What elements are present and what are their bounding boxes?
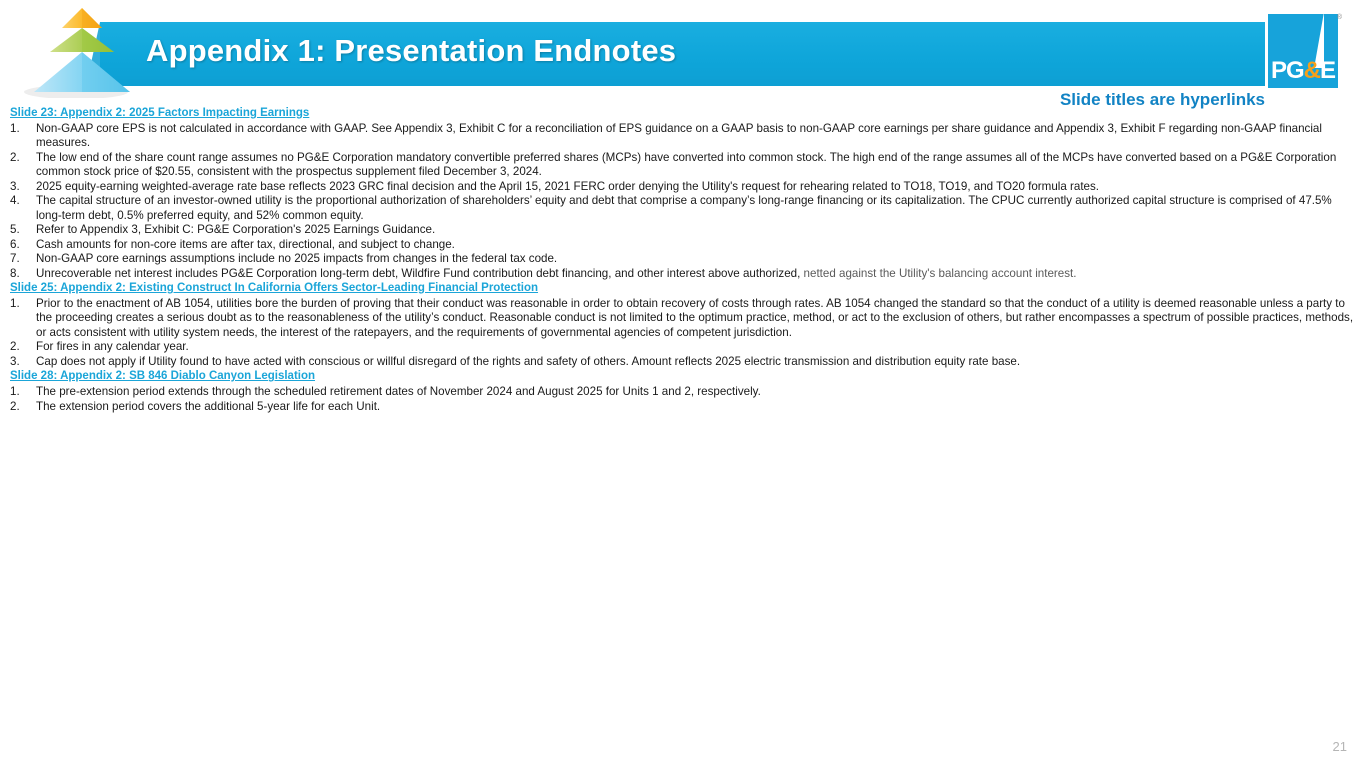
endnote-item: 3.2025 equity-earning weighted-average r… xyxy=(0,180,1365,194)
endnote-text: The extension period covers the addition… xyxy=(36,400,1365,414)
endnote-list: 1.Prior to the enactment of AB 1054, uti… xyxy=(0,297,1365,369)
endnote-number: 1. xyxy=(10,385,32,399)
pge-logo-text: PG&E xyxy=(1268,59,1338,83)
registered-mark-icon: ® xyxy=(1337,14,1342,21)
endnote-number: 7. xyxy=(10,252,32,266)
endnote-number: 4. xyxy=(10,194,32,208)
endnotes-content: Slide 23: Appendix 2: 2025 Factors Impac… xyxy=(0,106,1365,414)
endnote-text: Non-GAAP core earnings assumptions inclu… xyxy=(36,252,1365,266)
endnote-text: Prior to the enactment of AB 1054, utili… xyxy=(36,297,1365,340)
endnote-number: 6. xyxy=(10,238,32,252)
endnote-item: 8.Unrecoverable net interest includes PG… xyxy=(0,267,1365,281)
endnote-item: 6.Cash amounts for non-core items are af… xyxy=(0,238,1365,252)
slide-link[interactable]: Slide 25: Appendix 2: Existing Construct… xyxy=(10,281,1365,296)
endnote-number: 8. xyxy=(10,267,32,281)
slide-link[interactable]: Slide 23: Appendix 2: 2025 Factors Impac… xyxy=(10,106,1365,121)
endnote-text-main: The extension period covers the addition… xyxy=(36,400,380,413)
endnote-number: 3. xyxy=(10,355,32,369)
endnote-item: 2.For fires in any calendar year. xyxy=(0,340,1365,354)
endnote-text-main: Cap does not apply if Utility found to h… xyxy=(36,355,1020,368)
pge-logo-pg: PG xyxy=(1271,57,1304,84)
page-number: 21 xyxy=(1333,739,1347,754)
endnote-text-main: Refer to Appendix 3, Exhibit C: PG&E Cor… xyxy=(36,223,435,236)
endnote-list: 1.The pre-extension period extends throu… xyxy=(0,385,1365,414)
endnote-item: 5.Refer to Appendix 3, Exhibit C: PG&E C… xyxy=(0,223,1365,237)
endnote-item: 2.The low end of the share count range a… xyxy=(0,151,1365,180)
endnote-number: 2. xyxy=(10,151,32,165)
endnote-text-main: Prior to the enactment of AB 1054, utili… xyxy=(36,297,1353,339)
endnote-number: 1. xyxy=(10,297,32,311)
endnote-text-main: The pre-extension period extends through… xyxy=(36,385,761,398)
endnote-text: The low end of the share count range ass… xyxy=(36,151,1365,180)
endnote-item: 4.The capital structure of an investor-o… xyxy=(0,194,1365,223)
endnote-item: 3.Cap does not apply if Utility found to… xyxy=(0,355,1365,369)
endnote-text: Refer to Appendix 3, Exhibit C: PG&E Cor… xyxy=(36,223,1365,237)
endnote-section: Slide 28: Appendix 2: SB 846 Diablo Cany… xyxy=(0,369,1365,414)
endnote-number: 1. xyxy=(10,122,32,136)
pge-logo-e: E xyxy=(1320,57,1335,84)
endnote-item: 1.The pre-extension period extends throu… xyxy=(0,385,1365,399)
endnote-item: 1.Prior to the enactment of AB 1054, uti… xyxy=(0,297,1365,340)
endnote-text: Cap does not apply if Utility found to h… xyxy=(36,355,1365,369)
endnote-number: 3. xyxy=(10,180,32,194)
slide-link[interactable]: Slide 28: Appendix 2: SB 846 Diablo Cany… xyxy=(10,369,1365,384)
endnote-section: Slide 23: Appendix 2: 2025 Factors Impac… xyxy=(0,106,1365,281)
endnote-number: 2. xyxy=(10,400,32,414)
endnote-number: 2. xyxy=(10,340,32,354)
endnote-list: 1.Non-GAAP core EPS is not calculated in… xyxy=(0,122,1365,281)
pyramid-logo-icon xyxy=(22,6,142,98)
endnote-item: 7.Non-GAAP core earnings assumptions inc… xyxy=(0,252,1365,266)
endnote-text: 2025 equity-earning weighted-average rat… xyxy=(36,180,1365,194)
endnote-text-secondary: netted against the Utility's balancing a… xyxy=(800,267,1076,280)
endnote-text-main: The low end of the share count range ass… xyxy=(36,151,1336,178)
page-title: Appendix 1: Presentation Endnotes xyxy=(146,33,676,69)
endnote-text: The pre-extension period extends through… xyxy=(36,385,1365,399)
endnote-text-main: 2025 equity-earning weighted-average rat… xyxy=(36,180,1099,193)
endnote-text-main: Unrecoverable net interest includes PG&E… xyxy=(36,267,800,280)
pge-logo-square: PG&E xyxy=(1268,14,1338,88)
endnote-text-main: Non-GAAP core EPS is not calculated in a… xyxy=(36,122,1322,149)
endnote-text: Unrecoverable net interest includes PG&E… xyxy=(36,267,1365,281)
endnote-item: 2.The extension period covers the additi… xyxy=(0,400,1365,414)
endnote-text: Cash amounts for non-core items are afte… xyxy=(36,238,1365,252)
endnote-text: Non-GAAP core EPS is not calculated in a… xyxy=(36,122,1365,151)
endnote-text-main: For fires in any calendar year. xyxy=(36,340,189,353)
endnote-text-main: Non-GAAP core earnings assumptions inclu… xyxy=(36,252,557,265)
endnote-item: 1.Non-GAAP core EPS is not calculated in… xyxy=(0,122,1365,151)
endnote-section: Slide 25: Appendix 2: Existing Construct… xyxy=(0,281,1365,369)
endnote-text-main: The capital structure of an investor-own… xyxy=(36,194,1332,221)
endnote-number: 5. xyxy=(10,223,32,237)
endnote-text: The capital structure of an investor-own… xyxy=(36,194,1365,223)
pge-logo: PG&E ® xyxy=(1268,14,1342,92)
endnote-text: For fires in any calendar year. xyxy=(36,340,1365,354)
pge-logo-ampersand: & xyxy=(1304,57,1320,84)
endnote-text-main: Cash amounts for non-core items are afte… xyxy=(36,238,455,251)
